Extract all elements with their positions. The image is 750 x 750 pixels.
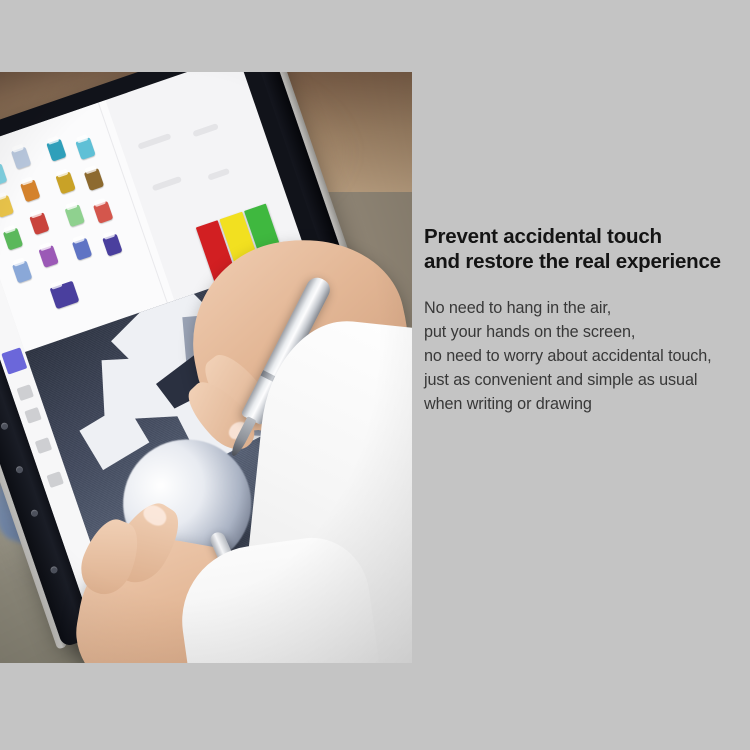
headline-line-1: Prevent accidental touch	[424, 224, 750, 249]
palette-swatch[interactable]	[93, 201, 113, 224]
body-line: when writing or drawing	[424, 392, 750, 416]
palette-swatch[interactable]	[65, 204, 85, 227]
palette-swatch[interactable]	[3, 228, 23, 251]
palette-swatch[interactable]	[39, 245, 59, 268]
palette-swatch[interactable]	[72, 238, 92, 261]
palette-swatch[interactable]	[102, 234, 122, 257]
body-line: No need to hang in the air,	[424, 296, 750, 320]
product-photo: ▢ ◉ hp ◌	[0, 72, 412, 663]
app-menu-item[interactable]	[192, 123, 219, 137]
app-menu-item[interactable]	[207, 168, 230, 181]
panel-placeholder	[118, 138, 120, 144]
export-tool-icon[interactable]	[35, 437, 52, 454]
app-menu-item[interactable]	[152, 176, 182, 191]
bezel-dot-9	[50, 565, 59, 574]
palette-swatch[interactable]	[20, 180, 40, 203]
layers-tool-icon[interactable]	[1, 347, 27, 374]
body-copy: No need to hang in the air, put your han…	[424, 296, 750, 416]
app-menu-item[interactable]	[137, 133, 171, 150]
body-line: put your hands on the screen,	[424, 320, 750, 344]
body-line: no need to worry about accidental touch,	[424, 344, 750, 368]
body-line: just as convenient and simple as usual	[424, 368, 750, 392]
palette-swatch[interactable]	[0, 163, 7, 186]
palette-swatch[interactable]	[12, 261, 32, 284]
headline-line-2: and restore the real experience	[424, 249, 750, 274]
settings-tool-icon[interactable]	[16, 384, 33, 401]
product-marketing-image: ▢ ◉ hp ◌	[0, 0, 750, 750]
history-tool-icon[interactable]	[24, 407, 41, 424]
palette-swatch[interactable]	[11, 147, 31, 170]
palette-swatch[interactable]	[56, 172, 76, 195]
palette-swatch[interactable]	[29, 212, 49, 235]
more-tool-icon[interactable]	[46, 471, 63, 488]
bezel-dot-8	[30, 509, 39, 518]
bezel-dot-7	[15, 465, 24, 474]
palette-swatch[interactable]	[84, 168, 104, 191]
palette-swatch[interactable]	[46, 139, 66, 162]
palette-swatch[interactable]	[0, 195, 14, 218]
bezel-dot-6	[0, 422, 9, 431]
palette-swatch[interactable]	[50, 281, 80, 310]
marketing-copy: Prevent accidental touch and restore the…	[424, 224, 750, 416]
palette-swatch[interactable]	[75, 137, 95, 160]
panel-divider	[98, 102, 168, 303]
